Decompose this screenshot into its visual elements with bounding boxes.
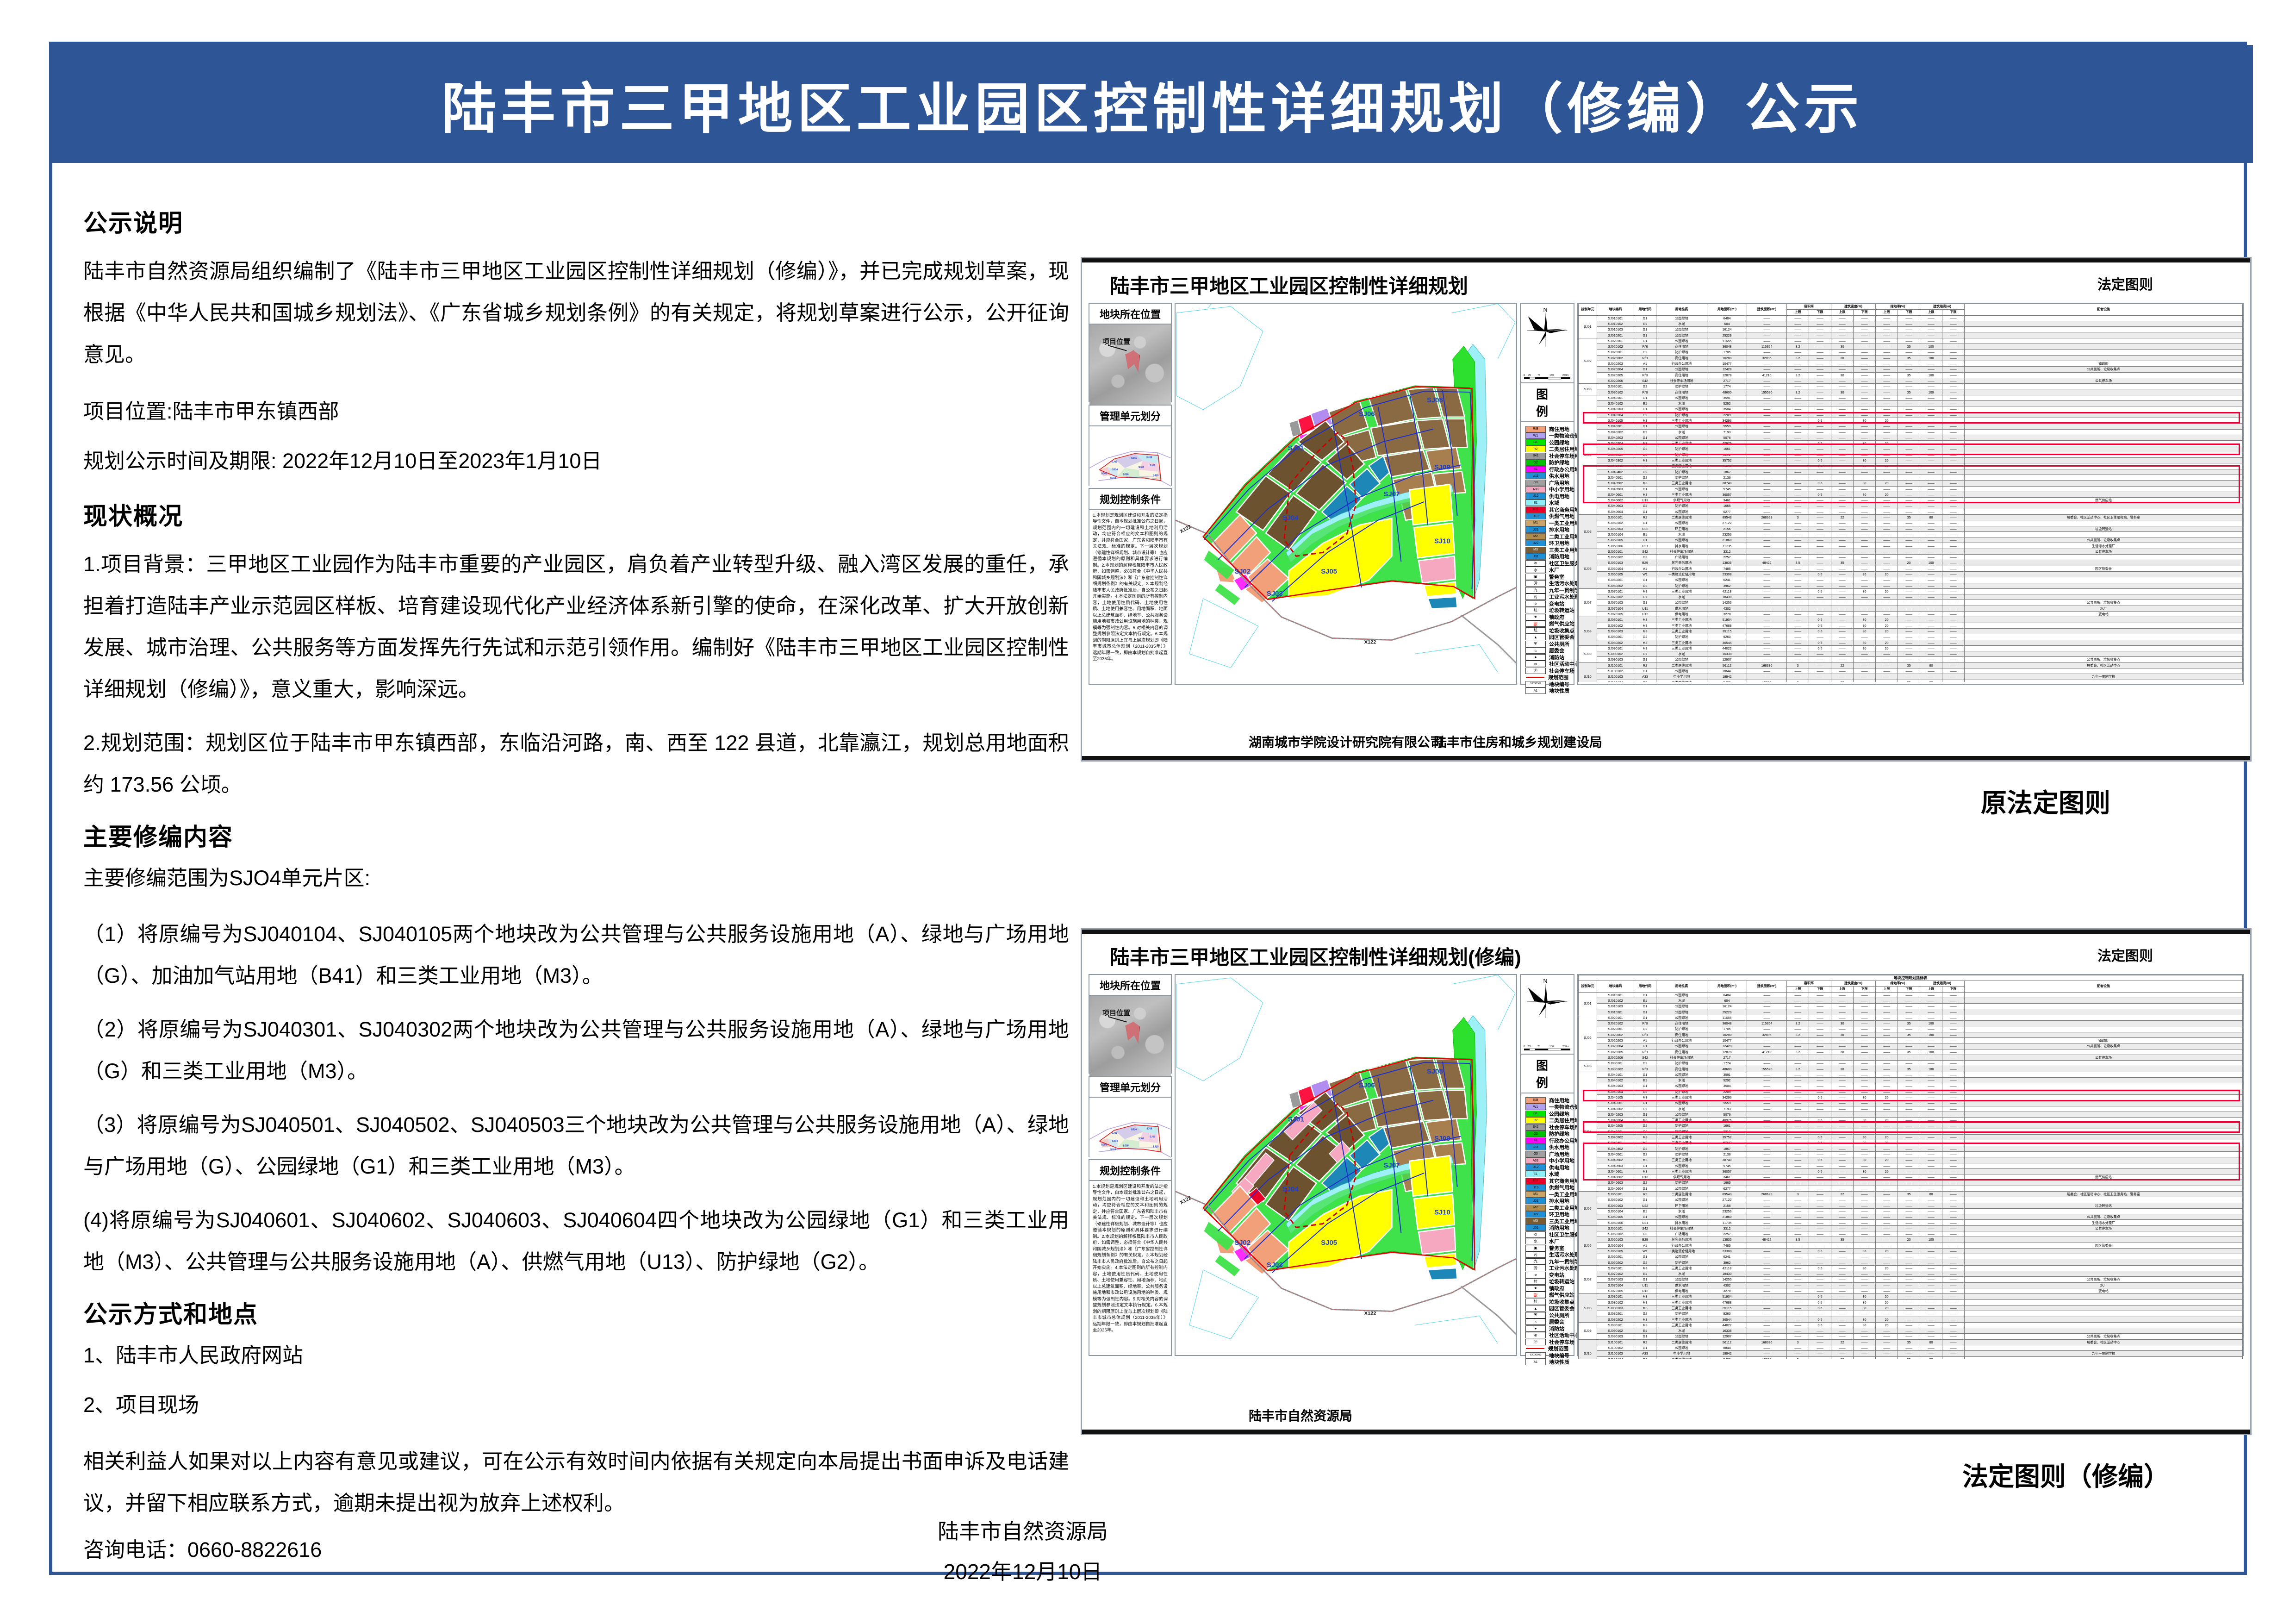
cell-no: SJ040103 <box>1597 406 1634 412</box>
cell-no: SJ040101 <box>1597 1072 1634 1077</box>
cell-grn_u: —— <box>1876 361 1898 366</box>
community-clinic-icon: ⊜ <box>1525 560 1546 567</box>
cell-h_l: —— <box>1942 1214 1965 1220</box>
cell-far_l: —— <box>1809 1043 1831 1049</box>
cell-h_l: —— <box>1942 1157 1965 1163</box>
cell-type: 排水用地 <box>1656 543 1707 549</box>
cell-den_l: —— <box>1854 1004 1876 1009</box>
cell-far_u: —— <box>1787 1203 1809 1208</box>
cell-h_l: —— <box>1942 1004 1965 1009</box>
cell-h_u: 100 <box>1920 1237 1942 1243</box>
cell-gfa: —— <box>1747 1123 1787 1129</box>
cell-code: B29 <box>1634 560 1656 566</box>
cell-area: 45243 <box>1707 463 1747 469</box>
cell-no: SJ060103 <box>1597 560 1634 566</box>
cell-code: B29 <box>1634 1237 1656 1243</box>
cell-far_l: —— <box>1809 1100 1831 1106</box>
cell-den_u: —— <box>1831 321 1854 326</box>
cell-code: M3 <box>1634 628 1656 634</box>
cell-h_u: —— <box>1920 526 1942 531</box>
cell-h_u: —— <box>1920 1089 1942 1094</box>
cell-grn_l: —— <box>1898 1243 1920 1248</box>
cell-area: 27122 <box>1707 520 1747 526</box>
cell-gfa: —— <box>1747 1197 1787 1203</box>
cell-grn_u: —— <box>1876 537 1898 543</box>
cell-den_l: —— <box>1854 1043 1876 1049</box>
cell-type: 其它商务用地 <box>1656 560 1707 566</box>
sheet-bottom-rule <box>1082 756 2250 760</box>
cell-h_l: —— <box>1942 674 1965 680</box>
cell-code: G1 <box>1634 1163 1656 1168</box>
cell-area: 36544 <box>1707 640 1747 645</box>
cell-no: SJ040101 <box>1597 395 1634 400</box>
cell-gfa: —— <box>1747 594 1787 600</box>
cell-den_u: —— <box>1831 1305 1854 1311</box>
cell-far_u: —— <box>1787 338 1809 344</box>
cell-h_u: —— <box>1920 1299 1942 1305</box>
cell-no: SJ090102 <box>1597 651 1634 657</box>
legend-swatch: G1 <box>1525 1111 1546 1117</box>
cell-den_u: —— <box>1831 674 1854 680</box>
cell-code: G1 <box>1634 1186 1656 1191</box>
cell-grn_l: —— <box>1898 623 1920 628</box>
cell-fac <box>1965 1094 2243 1100</box>
cell-fac <box>1965 344 2243 350</box>
cell-gfa: 115354 <box>1747 1021 1787 1026</box>
legend-annotation-item: SJ030502地块编号 <box>1525 1352 1571 1358</box>
cell-den_l: —— <box>1854 367 1876 372</box>
cell-den_l: —— <box>1854 344 1876 350</box>
cell-fac <box>1965 1140 2243 1146</box>
cell-fac: 燃气供应站 <box>1965 1174 2243 1180</box>
cell-type: 防护绿地 <box>1656 384 1707 389</box>
cell-far_u: —— <box>1787 1271 1809 1277</box>
cell-no: SJ050102 <box>1597 520 1634 526</box>
location-marker-label: 项目位置 <box>1102 337 1130 346</box>
cell-fac: 生活污水处理厂 <box>1965 543 2243 549</box>
cell-grn_l: —— <box>1898 1180 1920 1186</box>
cell-area: 34296 <box>1707 418 1747 423</box>
svg-text:SJ03: SJ03 <box>1110 1148 1116 1151</box>
cell-den_l: —— <box>1854 475 1876 480</box>
cell-h_l: —— <box>1942 1220 1965 1225</box>
legend-swatch: A1 <box>1525 466 1546 473</box>
cell-den_l: —— <box>1854 674 1876 680</box>
legend-entries-list: R/B商住用地 W1一类物流仓储用地 G1公园绿地 R2二类居住用地 S42社会… <box>1521 1093 1574 1368</box>
cell-h_l: —— <box>1942 992 1965 998</box>
th-land-area: 用地面积(m²) <box>1707 981 1747 993</box>
cell-gfa: —— <box>1747 1294 1787 1299</box>
cell-grn_u: —— <box>1876 1231 1898 1237</box>
cell-h_u: —— <box>1920 452 1942 457</box>
cell-area: 2156 <box>1707 526 1747 531</box>
cell-den_l: —— <box>1854 1203 1876 1208</box>
th-lower: 下限 <box>1942 310 1965 315</box>
cell-far_l: —— <box>1809 1083 1831 1089</box>
cell-no: SJ060102 <box>1597 1231 1634 1237</box>
cell-type: 三类工业用地 <box>1656 492 1707 497</box>
cell-area: 47688 <box>1707 1299 1747 1305</box>
cell-h_l: —— <box>1942 441 1965 446</box>
cell-type: 二类居住用地 <box>1656 1339 1707 1345</box>
cell-gfa: —— <box>1747 612 1787 617</box>
cell-unit: SJ08 <box>1579 617 1597 645</box>
cell-grn_u: —— <box>1876 372 1898 378</box>
cell-area: 2717 <box>1707 1055 1747 1060</box>
svg-text:250m: 250m <box>1562 1045 1569 1048</box>
cell-code: G1 <box>1634 1004 1656 1009</box>
cell-far_u: —— <box>1787 537 1809 543</box>
cell-code: G1 <box>1634 1277 1656 1282</box>
cell-gfa: 48422 <box>1747 560 1787 566</box>
cell-area: 3504 <box>1707 1083 1747 1089</box>
cell-den_u: —— <box>1831 1260 1854 1265</box>
cell-far_u: —— <box>1787 435 1809 440</box>
table-row: SJ050105G1公园绿地21860——————————————————公共厕… <box>1579 537 2243 543</box>
sheet-title: 陆丰市三甲地区工业园区控制性详细规划(修编) <box>1110 942 1521 970</box>
cell-h_u: —— <box>1920 1135 1942 1140</box>
cell-no: SJ060201 <box>1597 1254 1634 1260</box>
cell-type: 防护绿地 <box>1656 1146 1707 1151</box>
cell-grn_l: 35 <box>1898 680 1920 682</box>
cell-far_u: —— <box>1787 1317 1809 1322</box>
cell-area: 89543 <box>1707 1191 1747 1197</box>
cell-area: 9260 <box>1707 634 1747 640</box>
cell-den_u: 22 <box>1831 680 1854 682</box>
cell-no: SJ020202 <box>1597 1032 1634 1037</box>
public-parking-icon: Ⓟ <box>1525 668 1546 674</box>
cell-gfa: —— <box>1747 1203 1787 1208</box>
substation-icon: ⌀ <box>1525 600 1546 607</box>
cell-code: A33 <box>1634 674 1656 680</box>
cell-h_u: —— <box>1920 1026 1942 1032</box>
legend-annotation-item: 规划范围 <box>1525 675 1571 681</box>
cell-grn_l: —— <box>1898 1118 1920 1123</box>
table-row: SJ070104U11供水用地4302——————————————————水厂 <box>1579 606 2243 611</box>
cell-den_u: —— <box>1831 1094 1854 1100</box>
cell-fac <box>1965 1004 2243 1009</box>
cell-fac <box>1965 1345 2243 1351</box>
cell-area: 1705 <box>1707 350 1747 355</box>
cell-h_l: —— <box>1942 1186 1965 1191</box>
cell-code: U12 <box>1634 612 1656 617</box>
cell-fac <box>1965 1106 2243 1112</box>
cell-far_l: —— <box>1809 401 1831 406</box>
residents-committee-icon: ⌂ <box>1525 1318 1546 1325</box>
cell-far_l: —— <box>1809 657 1831 662</box>
cell-gfa: —— <box>1747 1220 1787 1225</box>
cell-far_l: —— <box>1809 560 1831 566</box>
cell-den_l: 30 <box>1854 481 1876 486</box>
cell-fac <box>1965 1197 2243 1203</box>
north-label: N <box>1543 306 1547 313</box>
cell-no: SJ080103 <box>1597 1305 1634 1311</box>
cell-gfa: —— <box>1747 367 1787 372</box>
cell-den_u: —— <box>1831 1015 1854 1020</box>
cell-type: 公园绿地 <box>1656 1004 1707 1009</box>
cell-den_u: —— <box>1831 571 1854 577</box>
cell-h_u: —— <box>1920 412 1942 418</box>
legend-item: U12供电用地 <box>1525 1164 1571 1170</box>
cell-grn_u: —— <box>1876 1032 1898 1037</box>
cell-fac <box>1965 1066 2243 1072</box>
cell-h_l: —— <box>1942 600 1965 606</box>
cell-h_l: —— <box>1942 1135 1965 1140</box>
cell-no: SJ010103 <box>1597 1004 1634 1009</box>
cell-grn_l: —— <box>1898 1089 1920 1094</box>
cell-no: SJ080201 <box>1597 634 1634 640</box>
cell-fac: 水厂 <box>1965 606 2243 611</box>
cell-h_l: —— <box>1942 1282 1965 1288</box>
cell-h_u: 100 <box>1920 389 1942 395</box>
cell-fac <box>1965 441 2243 446</box>
heading-notice: 公示说明 <box>83 204 1069 238</box>
cell-no: SJ020203 <box>1597 361 1634 366</box>
cell-fac <box>1965 1118 2243 1123</box>
svg-text:SJ03: SJ03 <box>1267 1261 1283 1269</box>
cell-grn_l: —— <box>1898 441 1920 446</box>
cell-type: 商住用地 <box>1656 344 1707 350</box>
cell-code: M3 <box>1634 623 1656 628</box>
cell-fac <box>1965 588 2243 594</box>
cell-fac <box>1965 1311 2243 1317</box>
table-row: SJ040103G1公园绿地3504—————————————————— <box>1579 1083 2243 1089</box>
cell-far_u: —— <box>1787 1140 1809 1146</box>
cell-gfa: —— <box>1747 1061 1787 1066</box>
cell-type: 防护绿地 <box>1656 503 1707 509</box>
cell-gfa: —— <box>1747 435 1787 440</box>
cell-den_l: —— <box>1854 1288 1876 1294</box>
cell-code: G2 <box>1634 384 1656 389</box>
cell-fac: 公共厕所、垃圾收集点 <box>1965 1334 2243 1339</box>
cell-den_u: —— <box>1831 1151 1854 1157</box>
legend-item: M2二类工业用地 <box>1525 533 1571 539</box>
cell-unit: SJ01 <box>1579 315 1597 338</box>
cell-fac: 公共厕所、垃圾收集点 <box>1965 1277 2243 1282</box>
cell-h_l: —— <box>1942 998 1965 1003</box>
cell-far_l: 0.5 <box>1809 1294 1831 1299</box>
cell-grn_u: —— <box>1876 555 1898 560</box>
cell-den_l: —— <box>1854 1106 1876 1112</box>
cell-h_u: —— <box>1920 1311 1942 1317</box>
cell-type: 防护绿地 <box>1656 469 1707 475</box>
table-row: SJ040502M3三类工业用地38740————0.5——3020—————— <box>1579 481 2243 486</box>
cell-grn_u: —— <box>1876 378 1898 383</box>
cell-grn_l: 35 <box>1898 1066 1920 1072</box>
cell-den_l: —— <box>1854 662 1876 668</box>
table-row: SJ050103U22环卫用地2156——————————————————垃圾转… <box>1579 1203 2243 1208</box>
th-height: 建筑限高(m) <box>1920 981 1965 987</box>
cell-no: SJ070103 <box>1597 600 1634 606</box>
cell-den_l: 30 <box>1854 588 1876 594</box>
cell-area: 12878 <box>1707 372 1747 378</box>
cell-far_l: —— <box>1809 1026 1831 1032</box>
cell-fac <box>1965 1231 2243 1237</box>
cell-fac <box>1965 446 2243 452</box>
cell-unit: SJ01 <box>1579 992 1597 1015</box>
cell-fac <box>1965 628 2243 634</box>
cell-den_u: —— <box>1831 1180 1854 1186</box>
cell-code: M3 <box>1634 1294 1656 1299</box>
cell-no: SJ040604 <box>1597 1186 1634 1191</box>
cell-no: SJ040104 <box>1597 412 1634 418</box>
cell-type: 公园绿地 <box>1656 1072 1707 1077</box>
cell-area: 6484 <box>1707 992 1747 998</box>
cell-no: SJ060105 <box>1597 571 1634 577</box>
cell-den_l: 30 <box>1854 617 1876 623</box>
cell-far_u: —— <box>1787 606 1809 611</box>
cell-grn_l: —— <box>1898 657 1920 662</box>
cell-den_l: —— <box>1854 429 1876 435</box>
cell-h_u: —— <box>1920 469 1942 475</box>
cell-far_l: —— <box>1809 1089 1831 1094</box>
cell-code: G2 <box>1634 1061 1656 1066</box>
legend-annotation-item: SJ030502地块编号 <box>1525 681 1571 687</box>
cell-no: SJ070101 <box>1597 1265 1634 1271</box>
cell-gfa: 115354 <box>1747 344 1787 350</box>
cell-code: E1 <box>1634 1208 1656 1214</box>
cell-grn_l: —— <box>1898 435 1920 440</box>
cell-den_l: 30 <box>1854 441 1876 446</box>
cell-type: 二类居住用地 <box>1656 680 1707 682</box>
cell-far_l: —— <box>1809 1174 1831 1180</box>
cell-den_l: —— <box>1854 446 1876 452</box>
cell-den_l: —— <box>1854 1066 1876 1072</box>
cell-grn_u: —— <box>1876 594 1898 600</box>
cell-code: R2 <box>1634 662 1656 668</box>
community-clinic-icon: ⊜ <box>1525 1231 1546 1238</box>
cell-gfa: —— <box>1747 1009 1787 1015</box>
cell-far_u: —— <box>1787 628 1809 634</box>
cell-far_u: —— <box>1787 1225 1809 1231</box>
table-row: SJ040602U13供燃气用地3461——————————————————燃气… <box>1579 498 2243 503</box>
table-row: SJ03SJ030101G2防护绿地1774—————————————————— <box>1579 1061 2243 1066</box>
legend-facility-item: Ⓟ社会停车场 <box>1525 668 1571 674</box>
cell-den_l: —— <box>1854 1061 1876 1066</box>
cell-area: 2212 <box>1707 452 1747 457</box>
sheet-footer-left: 湖南城市学院设计研究院有限公司 <box>1249 732 1443 751</box>
cell-den_u: —— <box>1831 367 1854 372</box>
cell-gfa: —— <box>1747 600 1787 606</box>
cell-den_u: —— <box>1831 429 1854 435</box>
cell-fac: 公共厕所、垃圾收集点 <box>1965 367 2243 372</box>
cell-h_l: —— <box>1942 1112 1965 1117</box>
cell-type: 商住用地 <box>1656 1066 1707 1072</box>
cell-type: 水域 <box>1656 429 1707 435</box>
cell-far_l: —— <box>1809 384 1831 389</box>
cell-fac <box>1965 1248 2243 1254</box>
table-row: SJ010102E1水域604—————————————————— <box>1579 321 2243 326</box>
cell-code: G1 <box>1634 668 1656 674</box>
cell-no: SJ040103 <box>1597 1083 1634 1089</box>
cell-far_u: —— <box>1787 651 1809 657</box>
cell-fac: 公共停车场 <box>1965 549 2243 554</box>
cell-den_u: —— <box>1831 1009 1854 1015</box>
cell-den_l: —— <box>1854 1055 1876 1060</box>
cell-h_u: —— <box>1920 1112 1942 1117</box>
cell-no: SJ090103 <box>1597 1334 1634 1339</box>
cell-far_u: —— <box>1787 1322 1809 1328</box>
cell-type: 三类工业用地 <box>1656 418 1707 423</box>
cell-type: 行政办公用地 <box>1656 1037 1707 1043</box>
cell-gfa: —— <box>1747 1254 1787 1260</box>
table-row: SJ050106U21排水用地11735——————————————————生活… <box>1579 543 2243 549</box>
cell-far_u: —— <box>1787 526 1809 531</box>
cell-den_l: —— <box>1854 531 1876 537</box>
cell-far_u: —— <box>1787 1197 1809 1203</box>
project-location: 项目位置:陆丰市甲东镇西部 <box>83 398 1069 426</box>
cell-far_u: —— <box>1787 992 1809 998</box>
cell-h_u: —— <box>1920 594 1942 600</box>
svg-text:SJ09: SJ09 <box>1150 1136 1155 1138</box>
table-row: SJ05SJ050101R2二类居住用地895432686293——22————… <box>1579 1191 2243 1197</box>
cell-den_u: 30 <box>1831 355 1854 361</box>
cell-gfa: —— <box>1747 452 1787 457</box>
cell-h_l: —— <box>1942 560 1965 566</box>
cell-grn_u: —— <box>1876 1049 1898 1055</box>
cell-h_l: —— <box>1942 492 1965 497</box>
cell-far_u: —— <box>1787 1345 1809 1351</box>
cell-no: SJ040401 <box>1597 463 1634 469</box>
cell-h_u: —— <box>1920 1157 1942 1163</box>
cell-no: SJ020204 <box>1597 1043 1634 1049</box>
cell-fac <box>1965 571 2243 577</box>
cell-h_u: —— <box>1920 1254 1942 1260</box>
cell-den_l: 30 <box>1854 463 1876 469</box>
cell-no: SJ010201 <box>1597 1009 1634 1015</box>
cell-area: 11735 <box>1707 1220 1747 1225</box>
cell-grn_u: —— <box>1876 531 1898 537</box>
cell-gfa: —— <box>1747 441 1787 446</box>
cell-far_u: —— <box>1787 657 1809 662</box>
table-row: SJ090103G1公园绿地12907——————————————————公共厕… <box>1579 1334 2243 1339</box>
cell-grn_u: 20 <box>1876 1157 1898 1163</box>
legend-item: E1水域 <box>1525 1171 1571 1177</box>
cell-grn_l: —— <box>1898 606 1920 611</box>
cell-grn_u: —— <box>1876 1225 1898 1231</box>
cell-grn_l: —— <box>1898 668 1920 674</box>
cell-far_u: —— <box>1787 1260 1809 1265</box>
cell-den_l: —— <box>1854 1186 1876 1191</box>
table-row: SJ060201G1公园绿地6241—————————————————— <box>1579 1254 2243 1260</box>
cell-den_u: —— <box>1831 469 1854 475</box>
cell-h_l: —— <box>1942 481 1965 486</box>
cell-h_u: 80 <box>1920 514 1942 520</box>
cell-no: SJ050102 <box>1597 1197 1634 1203</box>
cell-grn_u: —— <box>1876 1271 1898 1277</box>
legend-facility-item: ▣警务室 <box>1525 1245 1571 1251</box>
park-committee-icon: ▲ <box>1525 634 1546 640</box>
cell-type: 三类工业用地 <box>1656 1299 1707 1305</box>
cell-code: M3 <box>1634 1317 1656 1322</box>
cell-h_l: —— <box>1942 514 1965 520</box>
cell-unit: SJ08 <box>1579 1294 1597 1322</box>
cell-far_l: —— <box>1809 1072 1831 1077</box>
cell-fac <box>1965 1260 2243 1265</box>
table-row: SJ100103A33中小学用地19942——————————————————九… <box>1579 674 2243 680</box>
cell-far_l: —— <box>1809 1009 1831 1015</box>
compass-rose: N <box>1521 304 1574 373</box>
cell-den_l: —— <box>1854 378 1876 383</box>
cell-grn_l: —— <box>1898 1055 1920 1060</box>
cell-area: 5559 <box>1707 1100 1747 1106</box>
cell-code: G1 <box>1634 992 1656 998</box>
cell-fac <box>1965 617 2243 623</box>
cell-h_l: —— <box>1942 429 1965 435</box>
cell-unit: SJ10 <box>1579 662 1597 682</box>
table-row: SJ020203A1行政办公用地10477——————————————————镇… <box>1579 1037 2243 1043</box>
legend-swatch: G1 <box>1525 439 1546 446</box>
